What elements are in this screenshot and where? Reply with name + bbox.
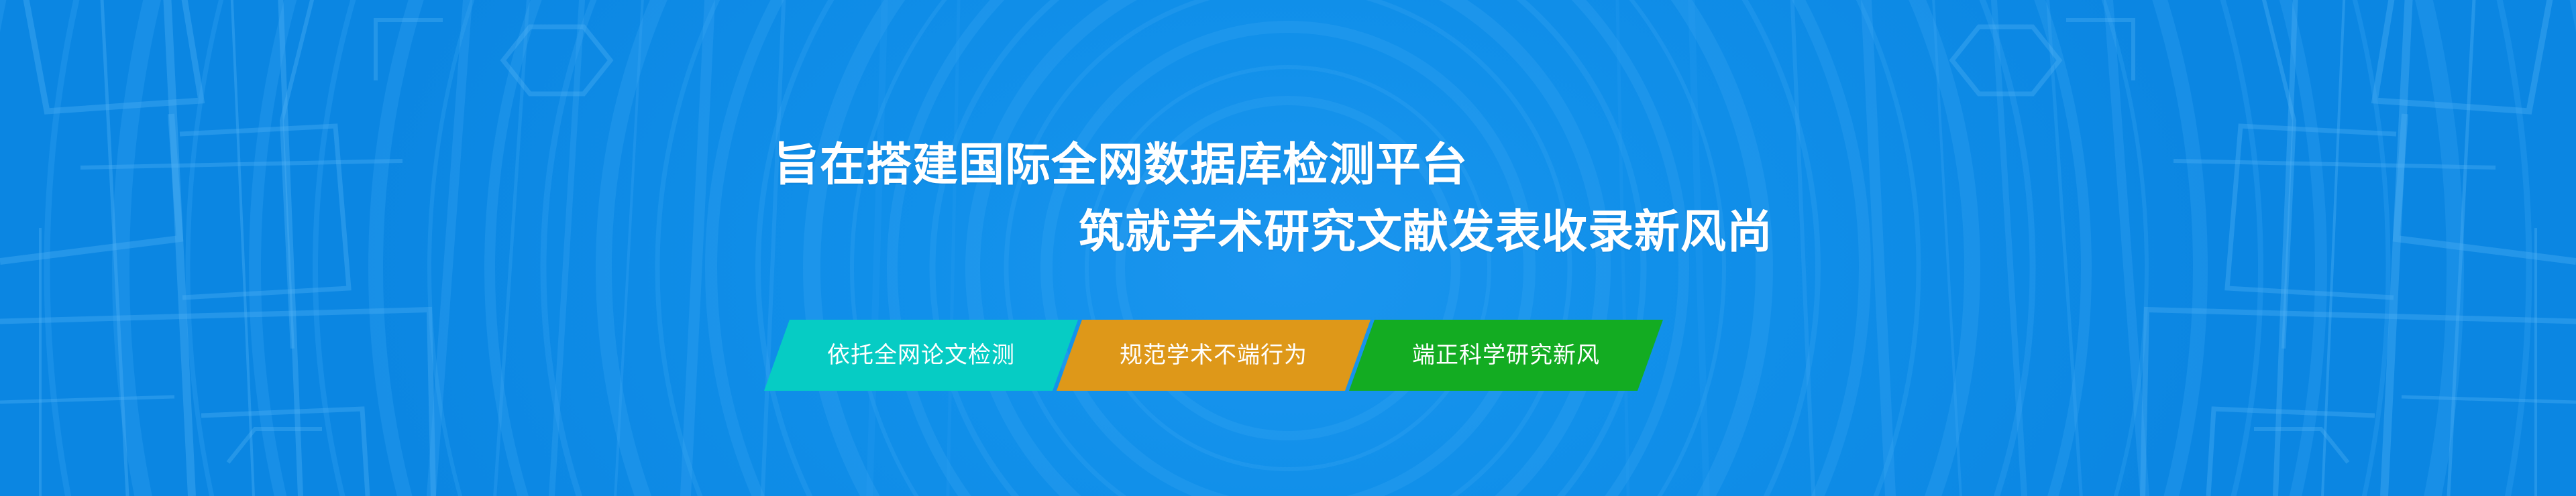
badge-academic-misconduct-label: 规范学术不端行为 <box>1120 344 1307 367</box>
badge-academic-misconduct[interactable]: 规范学术不端行为 <box>1057 320 1371 391</box>
badge-research-ethos-label: 端正科学研究新风 <box>1412 344 1600 367</box>
hero-banner: 旨在搭建国际全网数据库检测平台 筑就学术研究文献发表收录新风尚 依托全网论文检测… <box>0 0 2576 496</box>
badge-paper-detection-label: 依托全网论文检测 <box>827 344 1015 367</box>
badge-research-ethos[interactable]: 端正科学研究新风 <box>1349 320 1663 391</box>
headline-line-2: 筑就学术研究文献发表收录新风尚 <box>1079 209 1773 255</box>
headline-block: 旨在搭建国际全网数据库检测平台 筑就学术研究文献发表收录新风尚 <box>0 131 2576 272</box>
badge-strip: 依托全网论文检测 规范学术不端行为 端正科学研究新风 <box>777 320 1650 391</box>
badge-paper-detection[interactable]: 依托全网论文检测 <box>764 320 1078 391</box>
headline-line-1: 旨在搭建国际全网数据库检测平台 <box>773 142 1468 188</box>
